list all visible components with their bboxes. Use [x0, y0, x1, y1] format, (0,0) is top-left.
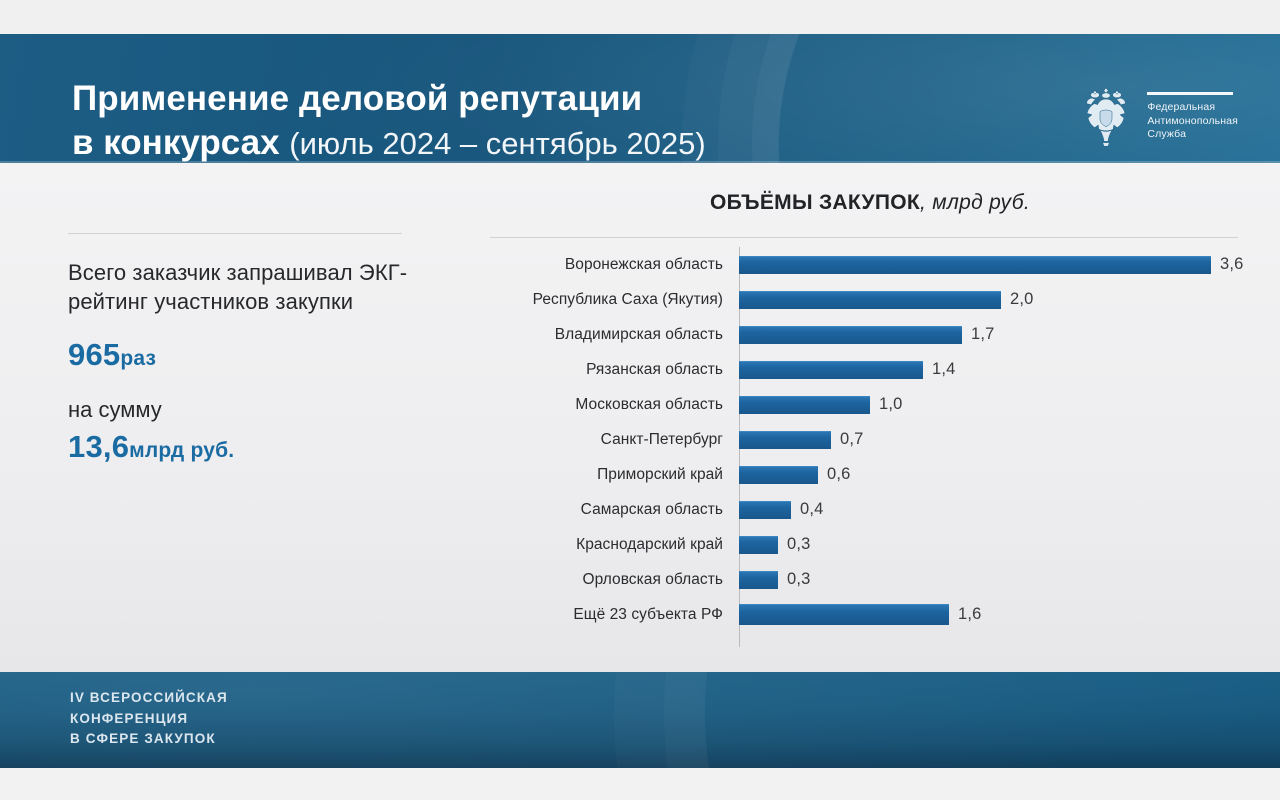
chart-category-label: Краснодарский край	[490, 536, 733, 554]
chart-category-label: Орловская область	[490, 571, 733, 589]
chart-bar-zone: 0,7	[733, 422, 1250, 457]
conference-line-2: КОНФЕРЕНЦИЯ	[70, 709, 228, 730]
procurement-volume-chart: Воронежская область3,6Республика Саха (Я…	[490, 247, 1250, 647]
chart-bar-zone: 1,4	[733, 352, 1250, 387]
chart-bar-value: 3,6	[1220, 255, 1244, 274]
chart-category-label: Республика Саха (Якутия)	[490, 291, 733, 309]
title-line-1: Применение деловой репутации	[72, 78, 872, 119]
request-count-unit: раз	[120, 347, 156, 370]
chart-bar-zone: 0,6	[733, 457, 1250, 492]
title-line-2: в конкурсах	[72, 123, 280, 162]
chart-bar-zone: 1,0	[733, 387, 1250, 422]
chart-category-label: Ещё 23 субъекта РФ	[490, 606, 733, 624]
chart-bar-row: Республика Саха (Якутия)2,0	[490, 282, 1250, 317]
footer-band: IV ВСЕРОССИЙСКАЯ КОНФЕРЕНЦИЯ В СФЕРЕ ЗАК…	[0, 672, 1280, 768]
summary-divider	[68, 233, 402, 234]
slide-body: Всего заказчик запрашивал ЭКГ-рейтинг уч…	[0, 163, 1280, 672]
chart-bar	[739, 501, 791, 519]
chart-bar-zone: 1,6	[733, 597, 1250, 632]
conference-branding: IV ВСЕРОССИЙСКАЯ КОНФЕРЕНЦИЯ В СФЕРЕ ЗАК…	[70, 688, 228, 750]
chart-bar-row: Санкт-Петербург0,7	[490, 422, 1250, 457]
chart-bar-value: 0,3	[787, 570, 811, 589]
chart-category-label: Воронежская область	[490, 256, 733, 274]
chart-bar-value: 1,0	[879, 395, 903, 414]
chart-bar-row: Владимирская область1,7	[490, 317, 1250, 352]
chart-bar-row: Рязанская область1,4	[490, 352, 1250, 387]
chart-bar-zone: 0,3	[733, 527, 1250, 562]
letterbox-bottom	[0, 768, 1280, 800]
sum-label: на сумму	[68, 397, 408, 423]
chart-category-label: Рязанская область	[490, 361, 733, 379]
chart-bar-row: Ещё 23 субъекта РФ1,6	[490, 597, 1250, 632]
chart-bar-zone: 3,6	[733, 247, 1250, 282]
russian-double-headed-eagle-emblem	[1078, 84, 1134, 150]
letterbox-top	[0, 0, 1280, 34]
chart-category-label: Санкт-Петербург	[490, 431, 733, 449]
chart-bar	[739, 604, 949, 625]
chart-bar-row: Краснодарский край0,3	[490, 527, 1250, 562]
summary-lead-text: Всего заказчик запрашивал ЭКГ-рейтинг уч…	[68, 258, 408, 317]
chart-bar-zone: 2,0	[733, 282, 1250, 317]
chart-bar-row: Воронежская область3,6	[490, 247, 1250, 282]
request-count-value: 965	[68, 337, 120, 372]
title-period: (июль 2024 – сентябрь 2025)	[289, 126, 705, 161]
chart-bar-value: 2,0	[1010, 290, 1034, 309]
chart-bar	[739, 396, 870, 414]
chart-bar	[739, 361, 923, 379]
fas-logo-line-3: Служба	[1147, 128, 1238, 141]
header-band: Применение деловой репутации в конкурсах…	[0, 34, 1280, 163]
chart-bar-value: 0,3	[787, 535, 811, 554]
chart-category-label: Владимирская область	[490, 326, 733, 344]
chart-bar-row: Приморский край0,6	[490, 457, 1250, 492]
chart-bar	[739, 326, 962, 344]
chart-category-label: Самарская область	[490, 501, 733, 519]
chart-divider	[490, 237, 1238, 238]
chart-bar-value: 0,7	[840, 430, 864, 449]
slide-root: Применение деловой репутации в конкурсах…	[0, 0, 1280, 800]
chart-bar-value: 1,7	[971, 325, 995, 344]
chart-category-label: Московская область	[490, 396, 733, 414]
chart-bar-value: 0,4	[800, 500, 824, 519]
chart-bar-zone: 1,7	[733, 317, 1250, 352]
conference-line-3: В СФЕРЕ ЗАКУПОК	[70, 729, 228, 750]
fas-logo-text: Федеральная Антимонопольная Служба	[1147, 92, 1238, 141]
chart-bar-value: 1,6	[958, 605, 982, 624]
chart-bar-value: 1,4	[932, 360, 956, 379]
fas-logo-rule	[1147, 92, 1233, 95]
chart-category-label: Приморский край	[490, 466, 733, 484]
chart-bar-row: Самарская область0,4	[490, 492, 1250, 527]
fas-logo-line-1: Федеральная	[1147, 101, 1238, 114]
chart-title: ОБЪЁМЫ ЗАКУПОК, млрд руб.	[490, 191, 1250, 215]
chart-bar-zone: 0,4	[733, 492, 1250, 527]
sum-value: 13,6	[68, 429, 129, 464]
chart-bar	[739, 571, 778, 589]
chart-bar	[739, 536, 778, 554]
chart-bar-row: Орловская область0,3	[490, 562, 1250, 597]
chart-bar-value: 0,6	[827, 465, 851, 484]
chart-bar	[739, 291, 1001, 309]
chart-bar-rows: Воронежская область3,6Республика Саха (Я…	[490, 247, 1250, 632]
chart-bar	[739, 256, 1211, 274]
chart-bar-row: Московская область1,0	[490, 387, 1250, 422]
summary-panel: Всего заказчик запрашивал ЭКГ-рейтинг уч…	[68, 233, 408, 465]
fas-logo: Федеральная Антимонопольная Служба	[1078, 84, 1238, 150]
sum-stat: 13,6млрд руб.	[68, 429, 408, 465]
chart-bar	[739, 466, 818, 484]
chart-bar-zone: 0,3	[733, 562, 1250, 597]
slide-title: Применение деловой репутации в конкурсах…	[72, 78, 872, 163]
chart-title-unit: , млрд руб.	[920, 191, 1030, 214]
sum-unit: млрд руб.	[129, 439, 234, 462]
fas-logo-line-2: Антимонопольная	[1147, 115, 1238, 128]
chart-title-main: ОБЪЁМЫ ЗАКУПОК	[710, 191, 920, 214]
conference-line-1: IV ВСЕРОССИЙСКАЯ	[70, 688, 228, 709]
request-count-stat: 965раз	[68, 337, 408, 373]
chart-bar	[739, 431, 831, 449]
